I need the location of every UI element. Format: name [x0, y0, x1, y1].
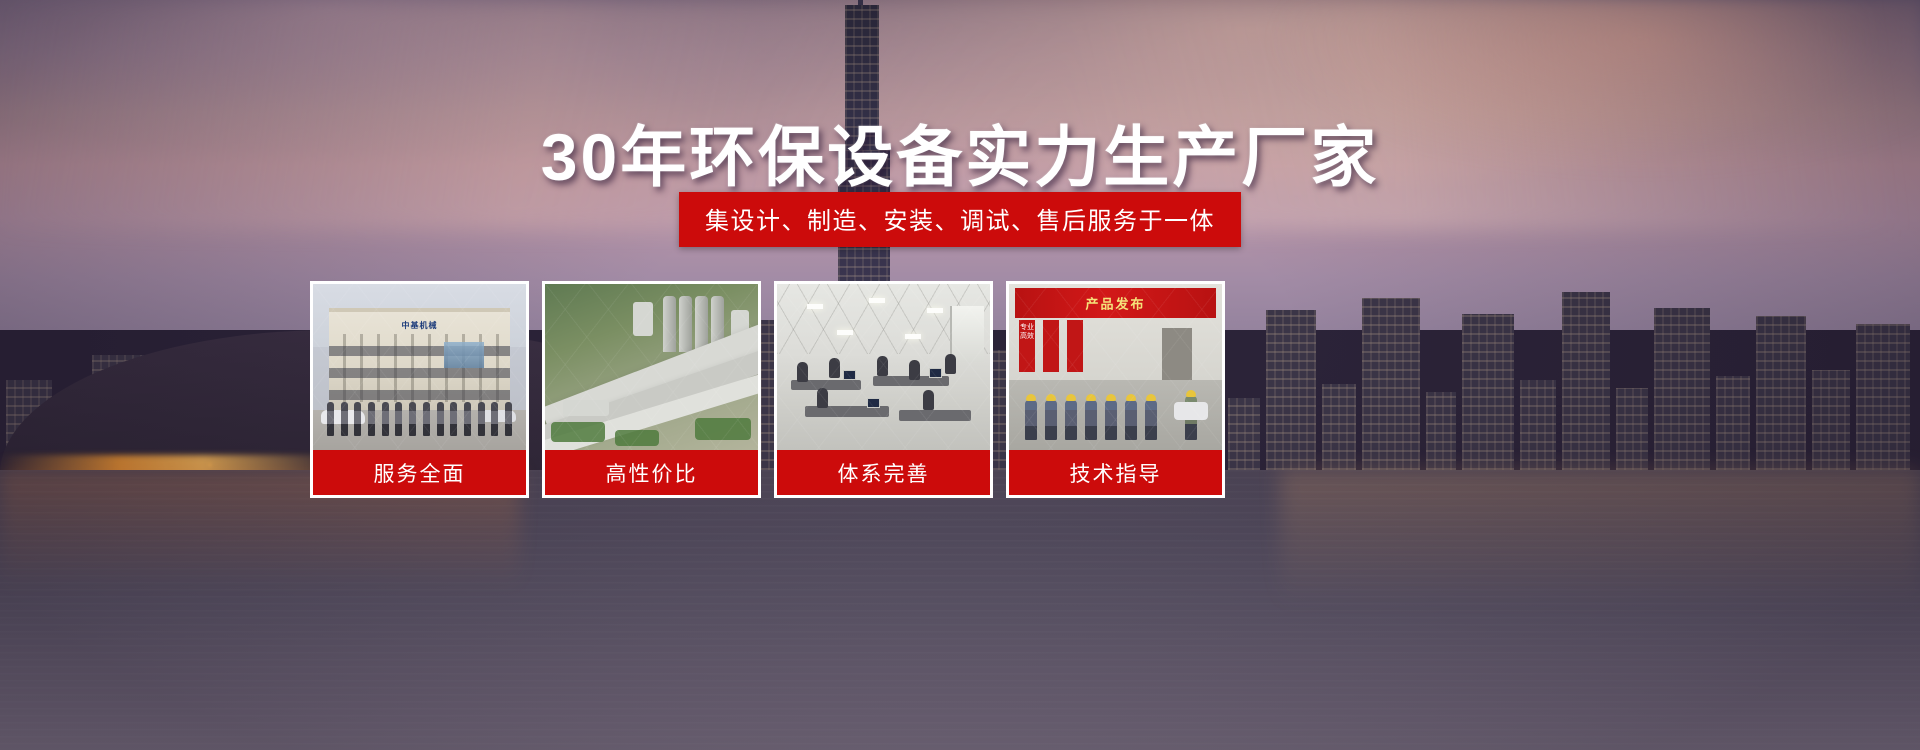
banner-content: 30年环保设备实力生产厂家 集设计、制造、安装、调试、售后服务于一体 中基机械 [0, 0, 1920, 750]
feature-card[interactable]: 产品发布 专业 高效 [1006, 281, 1225, 498]
company-office-building-photo: 中基机械 [313, 284, 526, 450]
feature-card-label: 服务全面 [313, 450, 526, 495]
feature-card[interactable]: 高性价比 [542, 281, 761, 498]
feature-card-label: 体系完善 [777, 450, 990, 495]
factory-red-banner: 产品发布 [1015, 288, 1216, 318]
feature-card[interactable]: 中基机械 服务全面 [310, 281, 529, 498]
factory-workers-photo: 产品发布 专业 高效 [1009, 284, 1222, 450]
feature-card-label: 高性价比 [545, 450, 758, 495]
staff-row [327, 402, 512, 436]
feature-card-label: 技术指导 [1009, 450, 1222, 495]
photo-sign-text: 中基机械 [402, 320, 438, 331]
banner-title: 30年环保设备实力生产厂家 [0, 104, 1920, 200]
office-workspace-photo [777, 284, 990, 450]
banner-subtitle: 集设计、制造、安装、调试、售后服务于一体 [679, 192, 1241, 247]
feature-card-list: 中基机械 服务全面 [310, 281, 1610, 498]
hero-banner: 30年环保设备实力生产厂家 集设计、制造、安装、调试、售后服务于一体 中基机械 [0, 0, 1920, 750]
photo-vertical-text: 专业 高效 [1019, 320, 1035, 341]
aerial-factory-plant-photo [545, 284, 758, 450]
banner-subtitle-wrap: 集设计、制造、安装、调试、售后服务于一体 [0, 192, 1920, 247]
feature-card[interactable]: 体系完善 [774, 281, 993, 498]
photo-banner-text: 产品发布 [1085, 294, 1145, 313]
